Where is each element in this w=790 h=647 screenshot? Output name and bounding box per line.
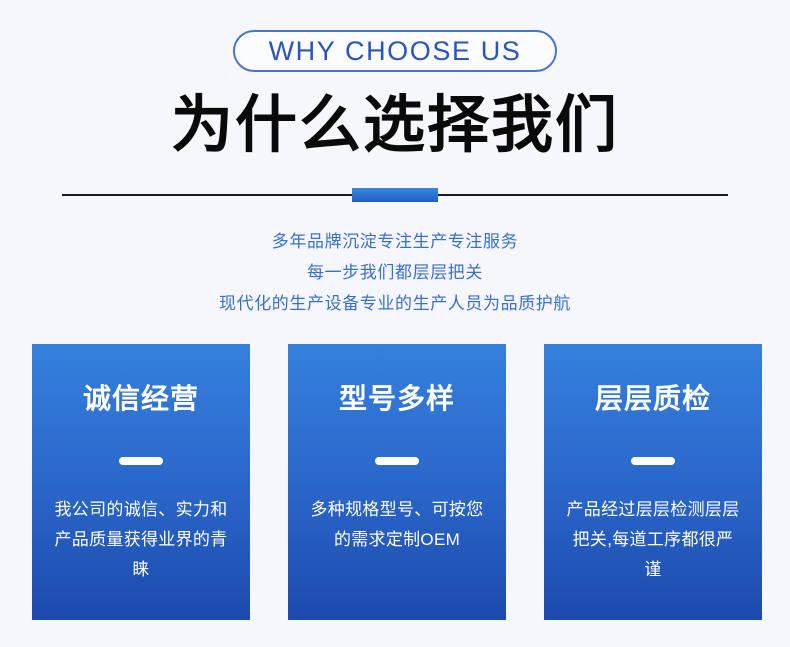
eyebrow-pill: WHY CHOOSE US — [233, 30, 558, 72]
subtitle-line-3: 现代化的生产设备专业的生产人员为品质护航 — [0, 288, 790, 319]
feature-card-divider — [119, 457, 163, 465]
eyebrow-label: WHY CHOOSE US — [269, 38, 522, 65]
feature-card-list: 诚信经营 我公司的诚信、实力和产品质量获得业界的青睐 型号多样 多种规格型号、可… — [32, 344, 762, 620]
feature-card: 型号多样 多种规格型号、可按您的需求定制OEM — [288, 344, 506, 620]
page-title: 为什么选择我们 — [0, 92, 790, 160]
feature-card-title: 型号多样 — [339, 384, 455, 415]
eyebrow-container: WHY CHOOSE US — [0, 30, 790, 72]
feature-card-title: 诚信经营 — [83, 384, 199, 415]
why-choose-us-banner: WHY CHOOSE US 为什么选择我们 多年品牌沉淀专注生产专注服务 每一步… — [0, 0, 790, 647]
feature-card: 诚信经营 我公司的诚信、实力和产品质量获得业界的青睐 — [32, 344, 250, 620]
feature-card-title: 层层质检 — [595, 384, 711, 415]
subtitle-line-2: 每一步我们都层层把关 — [0, 257, 790, 288]
subtitle-block: 多年品牌沉淀专注生产专注服务 每一步我们都层层把关 现代化的生产设备专业的生产人… — [0, 226, 790, 319]
feature-card-body: 多种规格型号、可按您的需求定制OEM — [308, 495, 486, 555]
feature-card-body: 产品经过层层检测层层把关,每道工序都很严谨 — [564, 495, 742, 585]
feature-card-body: 我公司的诚信、实力和产品质量获得业界的青睐 — [52, 495, 230, 585]
feature-card-divider — [631, 457, 675, 465]
feature-card-divider — [375, 457, 419, 465]
subtitle-line-1: 多年品牌沉淀专注生产专注服务 — [0, 226, 790, 257]
section-divider — [62, 188, 728, 202]
feature-card: 层层质检 产品经过层层检测层层把关,每道工序都很严谨 — [544, 344, 762, 620]
divider-accent-chip — [352, 188, 438, 202]
